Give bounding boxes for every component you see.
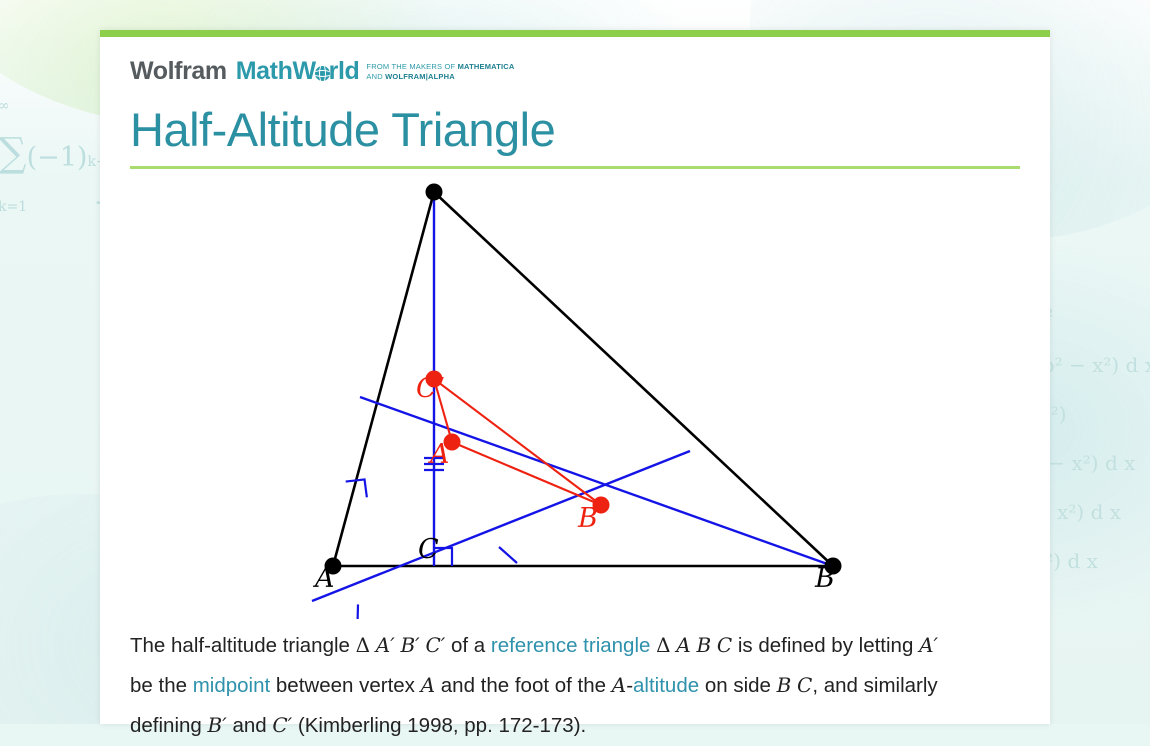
- background-formula-right-row-2: −²): [1034, 390, 1150, 439]
- tick-single-upper-A-altitude: [499, 547, 517, 563]
- body-var-Cp: C′: [425, 633, 445, 657]
- background-formula-right: x² (b² − x²) d x −²) ² − x²) d x − x²) d…: [1034, 292, 1150, 586]
- body-seg-8: on side: [699, 674, 777, 697]
- background-formula-left-body: (−1): [27, 142, 88, 173]
- body-var-C: C: [717, 633, 732, 657]
- body-seg-11: (Kimberling 1998, pp. 172-173).: [292, 714, 586, 737]
- body-seg-3: is defined by letting: [732, 634, 919, 657]
- vertex-dot-C: [426, 184, 443, 201]
- segment-Ap-Bp: [452, 442, 601, 505]
- body-seg-6: and the foot of the: [435, 674, 612, 697]
- body-var-A-3: A: [612, 673, 626, 697]
- vertex-label-A: A: [312, 563, 335, 594]
- logo-tagline: FROM THE MAKERS OF MATHEMATICA AND WOLFR…: [366, 62, 514, 82]
- body-seg-4: be the: [130, 674, 193, 697]
- background-formula-left-sup: ∞: [0, 98, 10, 114]
- body-var-Cp-2: C′: [272, 713, 292, 737]
- body-var-Bp-2: B′: [208, 713, 227, 737]
- vertex-label-C: C: [418, 534, 439, 565]
- background-formula-right-row-1: (b² − x²) d x: [1034, 341, 1150, 390]
- logo-mathworld-post: rld: [329, 57, 360, 85]
- body-delta-2: Δ: [656, 633, 670, 657]
- midpoint-label-Ap: A’: [427, 439, 454, 470]
- body-seg-2: of a: [445, 634, 491, 657]
- globe-icon: [315, 66, 330, 81]
- background-formula-left-sub: k=1: [0, 199, 27, 215]
- content-card: Wolfram MathWrld FROM THE MAKERS OF MATH…: [100, 30, 1050, 724]
- logo-mathworld-pre: MathW: [236, 57, 316, 85]
- link-midpoint[interactable]: midpoint: [193, 674, 271, 697]
- body-var-Bp: B′: [400, 633, 419, 657]
- body-paragraph: The half-altitude triangle Δ A′ B′ C′ of…: [130, 626, 960, 746]
- background-formula-right-row-5: x²) d x: [1034, 537, 1150, 586]
- link-reference-triangle[interactable]: reference triangle: [491, 634, 651, 657]
- body-var-A-2: A: [421, 673, 435, 697]
- body-var-A: A: [676, 633, 690, 657]
- body-seg-10: and: [227, 714, 273, 737]
- site-logo[interactable]: Wolfram MathWrld FROM THE MAKERS OF MATH…: [130, 37, 1020, 89]
- tagline-line1-bold: MATHEMATICA: [458, 62, 515, 71]
- tagline-line2-bold: WOLFRAM|ALPHA: [385, 72, 455, 81]
- body-var-B-2: B: [777, 673, 792, 697]
- body-seg-5: between vertex: [270, 674, 420, 697]
- tagline-line1-plain: FROM THE MAKERS OF: [366, 62, 457, 71]
- logo-wolfram-text: Wolfram: [130, 59, 227, 84]
- midpoint-label-Bp: B’: [577, 503, 606, 534]
- body-var-B: B: [696, 633, 711, 657]
- body-var-Ap: A′: [376, 633, 395, 657]
- top-accent-bar: [100, 30, 1050, 37]
- body-seg-1: The half-altitude triangle: [130, 634, 356, 657]
- background-formula-left-sum: ∑: [0, 130, 27, 176]
- body-seg-7: -: [626, 674, 633, 697]
- right-angle-at-foot-of-A-altitude: [352, 604, 396, 619]
- body-var-C-2: C: [797, 673, 812, 697]
- background-formula-right-row-3: ² − x²) d x: [1034, 439, 1150, 488]
- body-delta-1: Δ: [356, 633, 370, 657]
- midpoint-label-Cp: C’: [416, 373, 445, 404]
- page-title: Half-Altitude Triangle: [130, 103, 1020, 157]
- figure-container: C A B C’ A’ B’: [130, 169, 1020, 624]
- altitudes: [312, 192, 833, 601]
- background-formula-right-row-4: − x²) d x: [1034, 488, 1150, 537]
- altitude-from-A: [312, 451, 690, 601]
- logo-mathworld-text: MathWrld: [236, 59, 360, 84]
- background-formula-right-row-0: x²: [1034, 292, 1150, 341]
- tagline-line2-plain: AND: [366, 72, 385, 81]
- half-altitude-triangle-diagram: C A B C’ A’ B’: [130, 169, 1020, 619]
- link-altitude[interactable]: altitude: [633, 674, 699, 697]
- side-BC: [434, 192, 833, 566]
- vertex-label-B: B: [814, 563, 835, 594]
- body-var-Ap-2: A′: [919, 633, 938, 657]
